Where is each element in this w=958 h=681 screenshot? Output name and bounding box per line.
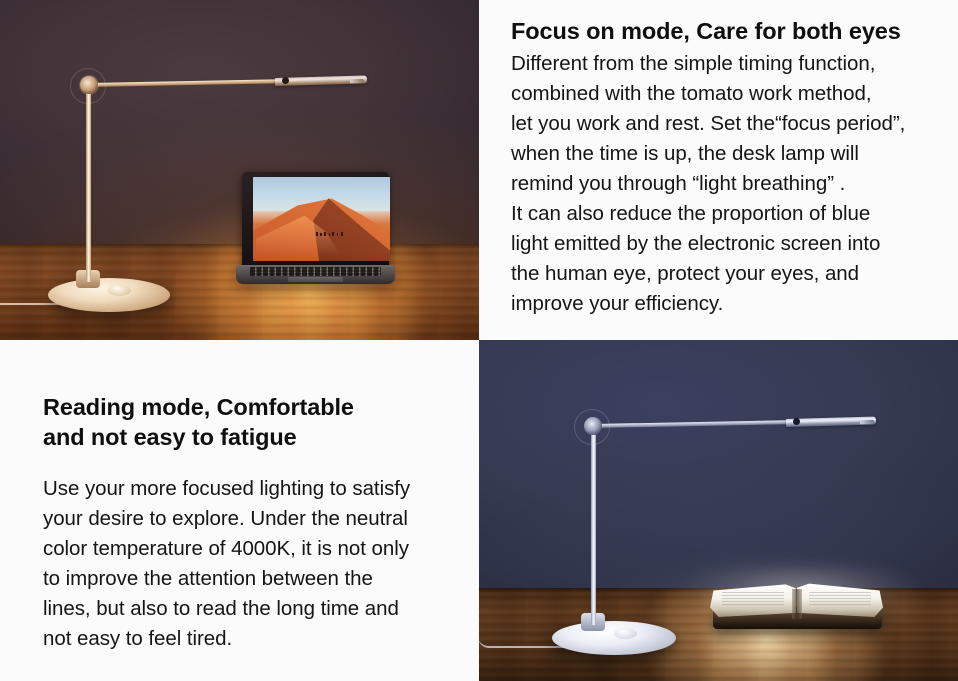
desk-lamp-warm: [60, 72, 360, 300]
body-line: Use your more focused lighting to satisf…: [43, 474, 443, 504]
body-line: not easy to feel tired.: [43, 624, 443, 654]
focus-mode-body: Different from the simple timing functio…: [511, 49, 944, 319]
photo-reading-mode: [479, 340, 958, 681]
product-feature-grid: Focus on mode, Care for both eyes Differ…: [0, 0, 958, 681]
body-line: lines, but also to read the long time an…: [43, 594, 443, 624]
focus-mode-heading: Focus on mode, Care for both eyes: [511, 16, 944, 46]
heading-line: Reading mode, Comfortable: [43, 392, 443, 422]
lamp-post: [591, 427, 596, 625]
lamp-head-tip: [860, 420, 874, 424]
body-line: when the time is up, the desk lamp will: [511, 139, 944, 169]
body-line: let you work and rest. Set the“focus per…: [511, 109, 944, 139]
body-line: improve your efficiency.: [511, 289, 944, 319]
panel-reading-mode-text: Reading mode, Comfortable and not easy t…: [0, 340, 479, 681]
heading-line: and not easy to fatigue: [43, 422, 443, 452]
lamp-arm-joint: [793, 418, 800, 425]
reading-mode-heading: Reading mode, Comfortable and not easy t…: [43, 392, 443, 452]
reading-mode-body: Use your more focused lighting to satisf…: [43, 474, 443, 654]
desk-lamp-cool: [564, 413, 874, 643]
panel-focus-mode-text: Focus on mode, Care for both eyes Differ…: [479, 0, 958, 340]
lamp-base: [48, 278, 170, 312]
body-line: the human eye, protect your eyes, and: [511, 259, 944, 289]
lamp-post: [86, 86, 91, 282]
photo-focus-mode: [0, 0, 479, 340]
body-line: light emitted by the electronic screen i…: [511, 229, 944, 259]
body-line: color temperature of 4000K, it is not on…: [43, 534, 443, 564]
body-line: your desire to explore. Under the neutra…: [43, 504, 443, 534]
lamp-pivot: [584, 417, 602, 435]
body-line: remind you through “light breathing” .: [511, 169, 944, 199]
lamp-base: [552, 621, 676, 655]
lamp-pivot: [80, 76, 98, 94]
lamp-head-tip: [350, 79, 364, 83]
body-line: to improve the attention between the: [43, 564, 443, 594]
body-line: It can also reduce the proportion of blu…: [511, 199, 944, 229]
body-line: combined with the tomato work method,: [511, 79, 944, 109]
lamp-arm-joint: [282, 77, 289, 84]
body-line: Different from the simple timing functio…: [511, 49, 944, 79]
